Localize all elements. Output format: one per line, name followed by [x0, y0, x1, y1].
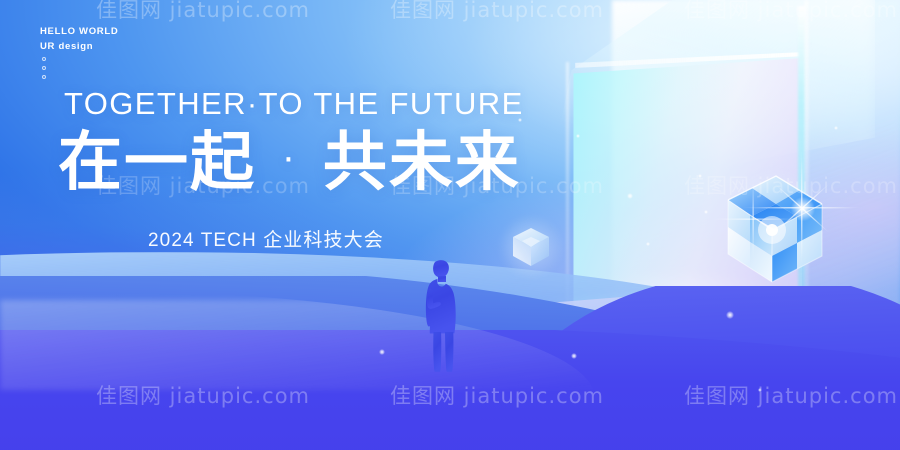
brand-bullet-dot — [42, 57, 46, 61]
sparkle-dot — [758, 388, 762, 392]
poster-canvas: HELLO WORLD UR design TOGETHER·TO THE FU… — [0, 0, 900, 450]
headline-chinese-left: 在一起 — [58, 126, 256, 198]
brand-bullet-dot — [42, 75, 46, 79]
headline-chinese-right: 共未来 — [323, 126, 521, 198]
small-crystal-cube — [508, 224, 554, 270]
cube-flare-core — [786, 192, 820, 226]
sparkle-dot — [627, 193, 632, 198]
headline-chinese: 在一起 · 共未来 — [58, 130, 521, 194]
person-silhouette — [416, 258, 468, 374]
brand-bullet-dots — [42, 57, 46, 79]
brand-block: HELLO WORLD UR design — [40, 24, 118, 54]
event-subtitle: 2024 TECH 企业科技大会 — [148, 225, 384, 252]
sparkle-dot — [571, 353, 577, 359]
brand-line-1: HELLO WORLD — [40, 24, 118, 39]
sparkle-dot — [726, 311, 733, 318]
headline-chinese-separator: · — [276, 135, 303, 179]
brand-line-2: UR design — [40, 39, 118, 54]
brand-bullet-dot — [42, 66, 46, 70]
headline-english: TOGETHER·TO THE FUTURE — [64, 86, 524, 122]
sparkle-dot — [698, 174, 702, 178]
